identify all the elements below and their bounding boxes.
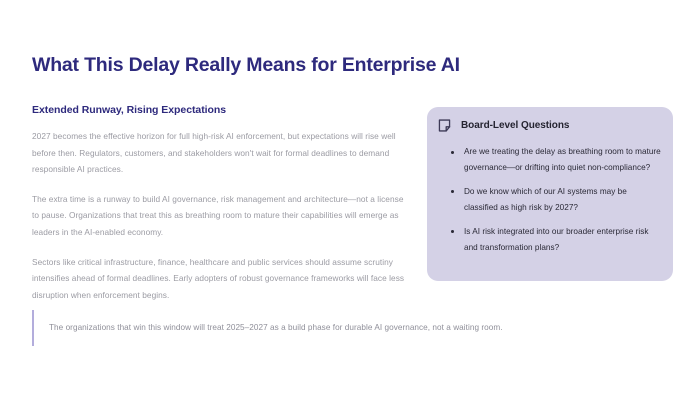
section-subheading: Extended Runway, Rising Expectations: [32, 104, 406, 116]
body-paragraph: Sectors like critical infrastructure, fi…: [32, 254, 406, 304]
list-item-label: Do we know which of our AI systems may b…: [464, 187, 627, 212]
list-item: Do we know which of our AI systems may b…: [445, 184, 661, 217]
bullet-dot-icon: [451, 151, 454, 154]
list-item: Are we treating the delay as breathing r…: [445, 144, 661, 177]
body-paragraph: 2027 becomes the effective horizon for f…: [32, 128, 406, 178]
board-level-questions-card: Board-Level Questions Are we treating th…: [427, 107, 673, 281]
list-item-label: Is AI risk integrated into our broader e…: [464, 227, 648, 252]
footer-quote-text: The organizations that win this window w…: [49, 321, 503, 335]
accent-bar: [32, 310, 34, 346]
page-title: What This Delay Really Means for Enterpr…: [32, 54, 460, 77]
left-content-column: Extended Runway, Rising Expectations 202…: [32, 104, 406, 303]
card-title: Board-Level Questions: [461, 120, 569, 131]
slide-canvas: What This Delay Really Means for Enterpr…: [0, 0, 700, 400]
list-item-label: Are we treating the delay as breathing r…: [464, 147, 661, 172]
card-header: Board-Level Questions: [437, 118, 569, 133]
list-item: Is AI risk integrated into our broader e…: [445, 224, 661, 257]
sticky-note-icon: [437, 118, 452, 133]
bullet-dot-icon: [451, 190, 454, 193]
body-paragraph: The extra time is a runway to build AI g…: [32, 191, 406, 241]
footer-callout: The organizations that win this window w…: [32, 310, 628, 346]
card-bullet-list: Are we treating the delay as breathing r…: [445, 144, 661, 256]
bullet-dot-icon: [451, 230, 454, 233]
